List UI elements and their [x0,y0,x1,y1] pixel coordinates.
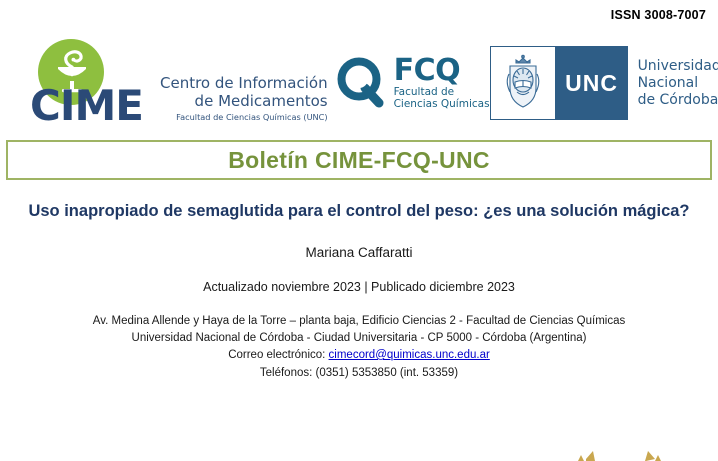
article-dates: Actualizado noviembre 2023 | Publicado d… [0,280,718,294]
cime-tagline: Centro de Información de Medicamentos Fa… [152,75,328,127]
fcq-tagline-line2: Ciencias Químicas [394,98,490,111]
unc-name-line1: Universidad [638,58,718,75]
unc-coat-of-arms-icon [503,54,543,112]
cime-wordmark: CIME [30,85,143,127]
unc-name-block: Universidad Nacional de Córdoba [628,58,718,109]
bulletin-title: Boletín CIME-FCQ-UNC [228,147,490,174]
email-line: Correo electrónico: cimecord@quimicas.un… [0,347,718,364]
phone-line: Teléfonos: (0351) 5353850 (int. 53359) [0,365,718,382]
email-link[interactable]: cimecord@quimicas.unc.edu.ar [329,349,490,361]
unc-crest-container [490,46,556,120]
fcq-wordmark: FCQ [394,56,490,86]
address-line-1: Av. Medina Allende y Haya de la Torre – … [0,313,718,330]
bulletin-title-box: Boletín CIME-FCQ-UNC [6,140,712,180]
institution-logo-band: CIME Centro de Información de Medicament… [0,24,718,128]
page-title: Uso inapropiado de semaglutida para el c… [28,198,690,225]
fcq-text-block: FCQ Facultad de Ciencias Químicas [388,56,490,111]
fcq-logo: FCQ Facultad de Ciencias Químicas [334,56,490,111]
address-line-2: Universidad Nacional de Córdoba - Ciudad… [0,330,718,347]
article-author: Mariana Caffaratti [0,245,718,260]
fcq-tagline-line1: Facultad de [394,86,490,99]
issn-label: ISSN 3008-7007 [611,8,706,22]
email-label: Correo electrónico: [228,349,325,361]
unc-acronym-box: UNC [556,46,628,120]
cime-tagline-line1: Centro de Información [160,75,328,93]
issn-row: ISSN 3008-7007 [0,0,718,24]
cime-faculty-subtitle: Facultad de Ciencias Químicas (UNC) [160,111,328,123]
laurel-wreath-tips [0,435,718,461]
contact-block: Av. Medina Allende y Haya de la Torre – … [0,313,718,381]
cime-logo-mark: CIME [30,39,152,127]
unc-name-line2: Nacional [638,75,718,92]
unc-name-line3: de Córdoba [638,92,718,109]
unc-acronym-label: UNC [565,70,618,97]
fcq-q-monogram-icon [334,56,388,110]
cime-logo: CIME Centro de Información de Medicament… [30,39,328,127]
cime-tagline-line2: de Medicamentos [160,93,328,111]
unc-logo: UNC Universidad Nacional de Córdoba [490,46,718,120]
